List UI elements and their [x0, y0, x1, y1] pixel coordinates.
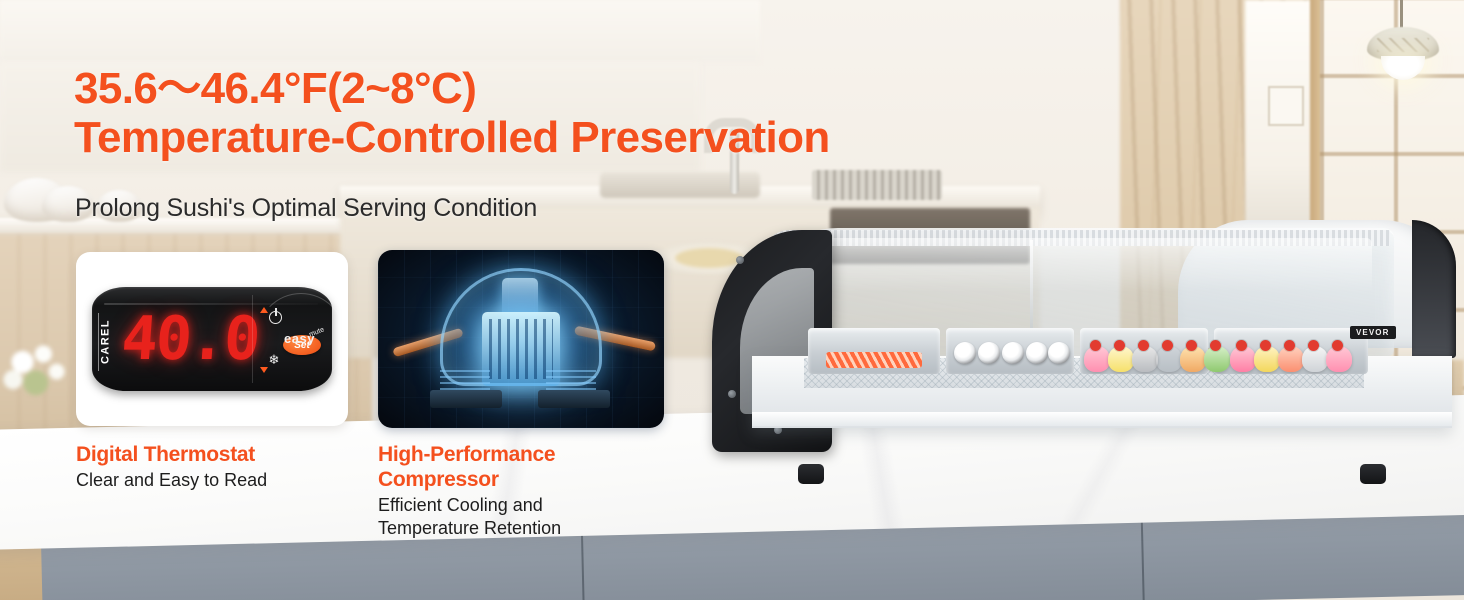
- sushi-piece: [1084, 346, 1110, 372]
- maki-piece: [954, 342, 976, 364]
- caption-thermostat-title: Digital Thermostat: [76, 443, 376, 468]
- sushi-piece: [1230, 346, 1256, 372]
- sushi-piece: [1302, 346, 1328, 372]
- sushi-display-case: VEVOR: [712, 216, 1452, 466]
- maki-piece: [978, 342, 1000, 364]
- caption-compressor-subtitle-line1: Efficient Cooling and: [378, 494, 678, 517]
- maki-piece: [1002, 342, 1024, 364]
- maki-piece: [1026, 342, 1048, 364]
- maki-rolls: [954, 342, 1070, 368]
- case-base-lip: [752, 412, 1452, 426]
- headline-block: 35.6～46.4°F(2~8°C) Temperature-Controlle…: [74, 66, 974, 161]
- marketing-banner: VEVOR 35.6～46.4°F(2~8°C) Temperature-Con…: [0, 0, 1464, 600]
- feature-card-compressor: [378, 250, 664, 428]
- caption-thermostat: Digital Thermostat Clear and Easy to Rea…: [76, 443, 376, 492]
- sushi-piece: [1326, 346, 1352, 372]
- compressor-mount: [430, 390, 502, 408]
- easy-series-area: easy: [288, 287, 332, 391]
- sushi-piece: [1156, 346, 1182, 372]
- sushi-piece: [1132, 346, 1158, 372]
- endcap-screw: [736, 256, 744, 264]
- endcap-screw: [728, 390, 736, 398]
- food-pans: [808, 328, 1368, 374]
- compressor-mount: [538, 390, 610, 408]
- case-leg: [798, 464, 824, 484]
- carel-logo: CAREL: [98, 313, 112, 371]
- vevor-brand-badge: VEVOR: [1350, 326, 1396, 339]
- caption-compressor-title-line1: High-Performance: [378, 443, 678, 468]
- pendant-lamp-cord: [1400, 0, 1403, 29]
- case-leg: [1360, 464, 1386, 484]
- headline-subtitle: Prolong Sushi's Optimal Serving Conditio…: [75, 194, 537, 223]
- caption-thermostat-subtitle: Clear and Easy to Read: [76, 469, 376, 492]
- case-hood-right-edge: [1412, 220, 1456, 358]
- headline-main: Temperature-Controlled Preservation: [74, 115, 974, 160]
- decorated-sushi-row: [1084, 332, 1364, 372]
- sushi-piece: [1278, 346, 1304, 372]
- sushi-piece: [1180, 346, 1206, 372]
- sushi-piece: [1108, 346, 1134, 372]
- headline-temperature-range: 35.6～46.4°F(2~8°C): [74, 66, 974, 111]
- caption-compressor: High-Performance Compressor Efficient Co…: [378, 443, 678, 540]
- dish-drainer: [812, 170, 942, 200]
- maki-piece: [1048, 342, 1070, 364]
- glass-reflection: [772, 238, 1372, 292]
- salmon-slices: [826, 352, 922, 368]
- sushi-piece: [1254, 346, 1280, 372]
- easy-series-label: easy: [284, 331, 315, 346]
- sushi-piece: [1204, 346, 1230, 372]
- wall-art: [1268, 86, 1304, 126]
- caption-compressor-subtitle-line2: Temperature Retention: [378, 517, 678, 540]
- thermostat-lcd-display: 40.0: [131, 303, 248, 375]
- carel-thermostat-device: CAREL 40.0 Set mute ❄ easy: [92, 287, 332, 391]
- wall-band-upper: [0, 0, 760, 62]
- caption-compressor-title-line2: Compressor: [378, 468, 678, 493]
- feature-card-thermostat: CAREL 40.0 Set mute ❄ easy: [76, 252, 348, 426]
